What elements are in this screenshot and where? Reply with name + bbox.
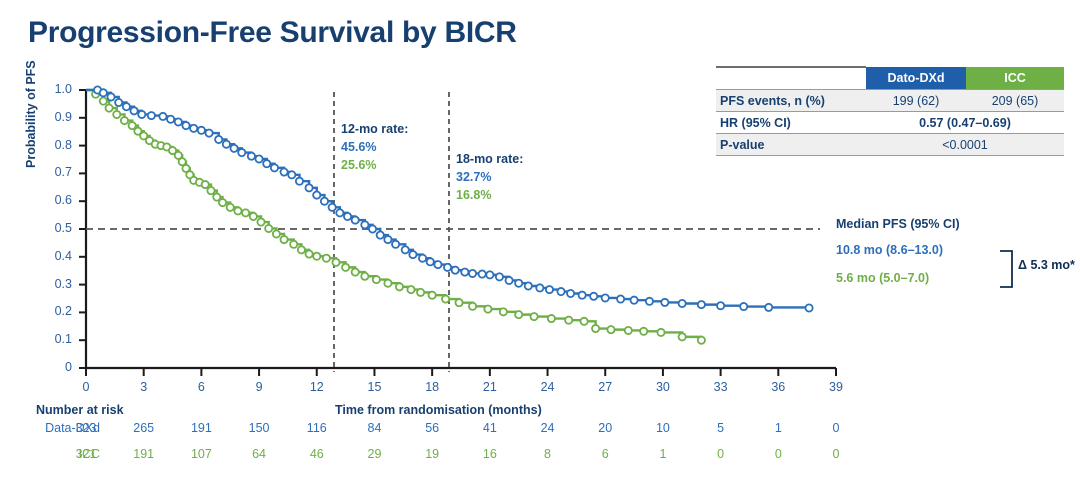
- censor-mark: [242, 209, 249, 216]
- number-at-risk-cell: 1: [758, 421, 798, 435]
- censor-mark: [548, 315, 555, 322]
- y-tick-label: 0.3: [38, 277, 72, 291]
- censor-mark: [646, 298, 653, 305]
- censor-mark: [198, 127, 205, 134]
- x-tick-marks: [86, 368, 836, 376]
- censor-mark: [392, 241, 399, 248]
- censor-mark: [202, 181, 209, 188]
- censor-mark: [105, 104, 112, 111]
- number-at-risk-title: Number at risk: [36, 403, 124, 417]
- censor-mark: [248, 153, 255, 160]
- number-at-risk-cell: 46: [297, 447, 337, 461]
- censor-mark: [679, 300, 686, 307]
- censor-mark: [409, 251, 416, 258]
- x-tick-label: 15: [354, 380, 394, 394]
- censor-mark: [429, 292, 436, 299]
- censor-mark: [175, 118, 182, 125]
- rate-18mo-dato-value: 32.7%: [456, 170, 491, 185]
- y-tick-label: 0.8: [38, 138, 72, 152]
- number-at-risk-cell: 191: [181, 421, 221, 435]
- censor-mark: [565, 317, 572, 324]
- censor-mark: [469, 303, 476, 310]
- censor-mark: [288, 171, 295, 178]
- censor-mark: [567, 290, 574, 297]
- censor-mark: [215, 136, 222, 143]
- censor-mark: [159, 113, 166, 120]
- censor-mark: [557, 288, 564, 295]
- censor-mark: [377, 232, 384, 239]
- censor-mark: [396, 283, 403, 290]
- censor-mark: [219, 199, 226, 206]
- pfs-events-icc-value: 209 (65): [966, 90, 1064, 112]
- number-at-risk-cell: 16: [470, 447, 510, 461]
- censor-mark: [329, 204, 336, 211]
- censor-mark: [452, 267, 459, 274]
- row-label-pfs-events: PFS events, n (%): [716, 90, 866, 112]
- censor-mark: [698, 301, 705, 308]
- number-at-risk-cell: 321: [66, 447, 106, 461]
- censor-mark: [369, 225, 376, 232]
- censor-mark: [717, 302, 724, 309]
- median-pfs-header: Median PFS (95% CI): [836, 217, 960, 231]
- censor-mark: [592, 325, 599, 332]
- censor-mark: [661, 299, 668, 306]
- censor-mark: [469, 270, 476, 277]
- y-tick-label: 0.1: [38, 332, 72, 346]
- x-tick-label: 6: [181, 380, 221, 394]
- censor-mark: [442, 295, 449, 302]
- censor-mark: [805, 304, 812, 311]
- censor-mark: [313, 253, 320, 260]
- number-at-risk-cell: 116: [297, 421, 337, 435]
- x-tick-label: 9: [239, 380, 279, 394]
- censor-mark: [417, 289, 424, 296]
- censor-mark: [280, 168, 287, 175]
- number-at-risk-cell: 56: [412, 421, 452, 435]
- censor-mark: [321, 198, 328, 205]
- censor-mark: [434, 261, 441, 268]
- censor-mark: [515, 280, 522, 287]
- summary-table: Dato-DXd ICC PFS events, n (%) 199 (62) …: [716, 66, 1064, 156]
- censor-mark: [130, 107, 137, 114]
- table-row: HR (95% CI) 0.57 (0.47–0.69): [716, 112, 1064, 134]
- number-at-risk-cell: 41: [470, 421, 510, 435]
- number-at-risk-cell: 323: [66, 421, 106, 435]
- censor-mark: [419, 255, 426, 262]
- censor-mark: [444, 264, 451, 271]
- number-at-risk-cell: 265: [124, 421, 164, 435]
- y-tick-label: 0: [38, 360, 72, 374]
- median-pfs-icc-value: 5.6 mo (5.0–7.0): [836, 271, 929, 285]
- censor-mark: [290, 241, 297, 248]
- table-row: P-value <0.0001: [716, 134, 1064, 156]
- p-value: <0.0001: [866, 134, 1064, 156]
- y-tick-label: 0.6: [38, 193, 72, 207]
- censor-mark: [525, 282, 532, 289]
- censor-mark: [205, 129, 212, 136]
- rate-12mo-dato-value: 45.6%: [341, 140, 376, 155]
- x-tick-label: 30: [643, 380, 683, 394]
- censor-mark: [579, 292, 586, 299]
- number-at-risk-cell: 24: [528, 421, 568, 435]
- censor-mark: [657, 329, 664, 336]
- censor-mark: [313, 191, 320, 198]
- censor-mark: [271, 164, 278, 171]
- table-row: PFS events, n (%) 199 (62) 209 (65): [716, 90, 1064, 112]
- x-tick-label: 39: [816, 380, 856, 394]
- number-at-risk-cell: 6: [585, 447, 625, 461]
- x-tick-label: 0: [66, 380, 106, 394]
- censor-mark: [305, 184, 312, 191]
- censor-mark: [530, 313, 537, 320]
- censor-mark: [580, 318, 587, 325]
- survival-curve-dato-dxd: [86, 90, 809, 308]
- censor-mark: [234, 207, 241, 214]
- row-label-p-value: P-value: [716, 134, 866, 156]
- censor-mark: [107, 93, 114, 100]
- censor-mark: [167, 116, 174, 123]
- pfs-events-dato-value: 199 (62): [866, 90, 966, 112]
- censor-mark: [352, 217, 359, 224]
- censor-mark: [484, 305, 491, 312]
- number-at-risk-cell: 1: [643, 447, 683, 461]
- censor-mark: [384, 236, 391, 243]
- x-tick-label: 36: [758, 380, 798, 394]
- censor-mark: [100, 89, 107, 96]
- censor-mark: [698, 337, 705, 344]
- censor-mark: [332, 259, 339, 266]
- y-tick-label: 0.2: [38, 304, 72, 318]
- censor-mark: [190, 125, 197, 132]
- censor-mark: [402, 246, 409, 253]
- x-tick-label: 3: [124, 380, 164, 394]
- median-pfs-dato-value: 10.8 mo (8.6–13.0): [836, 243, 943, 257]
- censor-mark: [148, 112, 155, 119]
- censor-mark: [536, 284, 543, 291]
- censor-mark: [305, 250, 312, 257]
- number-at-risk-cell: 8: [528, 447, 568, 461]
- censor-mark: [265, 225, 272, 232]
- number-at-risk-cell: 20: [585, 421, 625, 435]
- number-at-risk-cell: 150: [239, 421, 279, 435]
- censor-mark: [630, 297, 637, 304]
- censor-mark: [298, 246, 305, 253]
- number-at-risk-cell: 191: [124, 447, 164, 461]
- censor-mark: [546, 286, 553, 293]
- y-tick-label: 0.9: [38, 110, 72, 124]
- number-at-risk-cell: 84: [354, 421, 394, 435]
- censor-mark: [344, 213, 351, 220]
- censor-mark: [500, 308, 507, 315]
- censor-mark: [323, 255, 330, 262]
- number-at-risk-cell: 0: [816, 447, 856, 461]
- censor-mark: [407, 286, 414, 293]
- row-label-hr: HR (95% CI): [716, 112, 866, 134]
- censor-mark: [455, 299, 462, 306]
- censor-mark: [223, 141, 230, 148]
- summary-header-icc: ICC: [966, 67, 1064, 90]
- censor-mark: [373, 276, 380, 283]
- x-tick-label: 27: [585, 380, 625, 394]
- censor-mark: [238, 149, 245, 156]
- censor-mark: [479, 270, 486, 277]
- number-at-risk-cell: 29: [354, 447, 394, 461]
- censor-mark: [182, 122, 189, 129]
- number-at-risk-cell: 10: [643, 421, 683, 435]
- censor-mark: [617, 295, 624, 302]
- censor-mark: [515, 311, 522, 318]
- censor-mark: [280, 236, 287, 243]
- censor-mark: [361, 221, 368, 228]
- censor-mark: [138, 111, 145, 118]
- x-tick-label: 33: [701, 380, 741, 394]
- censor-mark: [100, 98, 107, 105]
- censor-mark: [296, 178, 303, 185]
- censor-mark: [257, 218, 264, 225]
- censor-marks-dato-dxd: [94, 86, 813, 311]
- number-at-risk-cell: 107: [181, 447, 221, 461]
- rate-18mo-header: 18-mo rate:: [456, 152, 523, 167]
- censor-mark: [273, 230, 280, 237]
- censor-mark: [123, 103, 130, 110]
- censor-mark: [427, 258, 434, 265]
- censor-mark: [679, 333, 686, 340]
- rate-12mo-header: 12-mo rate:: [341, 122, 408, 137]
- censor-mark: [361, 273, 368, 280]
- x-tick-label: 18: [412, 380, 452, 394]
- censor-mark: [115, 99, 122, 106]
- censor-mark: [486, 271, 493, 278]
- number-at-risk-cell: 64: [239, 447, 279, 461]
- censor-mark: [505, 277, 512, 284]
- censor-mark: [590, 293, 597, 300]
- x-tick-label: 24: [528, 380, 568, 394]
- number-at-risk-cell: 0: [816, 421, 856, 435]
- censor-mark: [602, 294, 609, 301]
- x-tick-label: 21: [470, 380, 510, 394]
- censor-mark: [336, 209, 343, 216]
- censor-mark: [740, 303, 747, 310]
- censor-mark: [607, 326, 614, 333]
- censor-mark: [230, 145, 237, 152]
- censor-mark: [113, 111, 120, 118]
- number-at-risk-cell: 0: [758, 447, 798, 461]
- hr-value: 0.57 (0.47–0.69): [866, 112, 1064, 134]
- summary-header-row: Dato-DXd ICC: [716, 67, 1064, 90]
- y-tick-label: 0.4: [38, 249, 72, 263]
- y-tick-label: 0.7: [38, 165, 72, 179]
- y-tick-label: 0.5: [38, 221, 72, 235]
- censor-mark: [461, 268, 468, 275]
- censor-mark: [342, 264, 349, 271]
- number-at-risk-cell: 5: [701, 421, 741, 435]
- number-at-risk-cell: 19: [412, 447, 452, 461]
- rate-18mo-icc-value: 16.8%: [456, 188, 491, 203]
- censor-mark: [207, 187, 214, 194]
- censor-mark: [496, 273, 503, 280]
- y-axis-label: Probability of PFS: [24, 60, 38, 168]
- censor-mark: [352, 268, 359, 275]
- median-pfs-delta: Δ 5.3 mo*: [1018, 258, 1075, 272]
- rate-12mo-icc-value: 25.6%: [341, 158, 376, 173]
- summary-header-blank: [716, 67, 866, 90]
- censor-mark: [625, 327, 632, 334]
- x-tick-label: 12: [297, 380, 337, 394]
- censor-mark: [121, 117, 128, 124]
- delta-bracket: [1000, 251, 1012, 287]
- censor-mark: [640, 328, 647, 335]
- censor-mark: [765, 304, 772, 311]
- censor-mark: [255, 155, 262, 162]
- censor-mark: [227, 204, 234, 211]
- x-axis-label: Time from randomisation (months): [335, 403, 542, 417]
- censor-mark: [263, 160, 270, 167]
- censor-mark: [384, 280, 391, 287]
- number-at-risk-cell: 0: [701, 447, 741, 461]
- censor-mark: [250, 213, 257, 220]
- y-tick-label: 1.0: [38, 82, 72, 96]
- summary-header-dato-dxd: Dato-DXd: [866, 67, 966, 90]
